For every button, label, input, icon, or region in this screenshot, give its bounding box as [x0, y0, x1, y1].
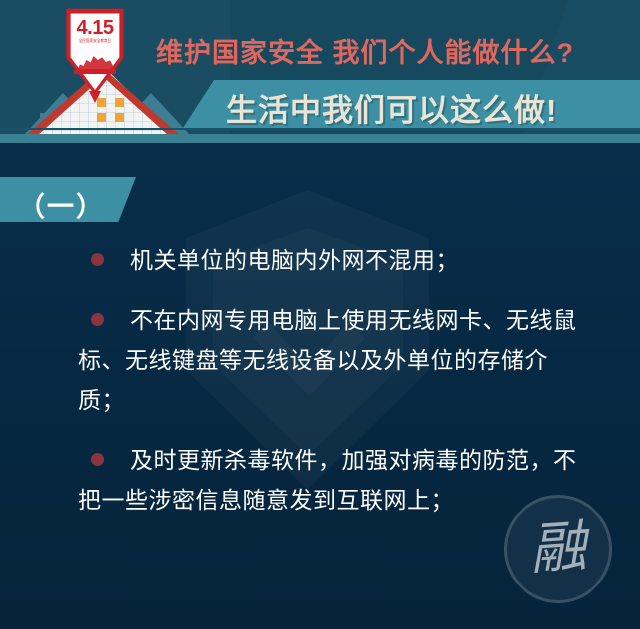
section-number-label: （一） [18, 185, 105, 224]
great-wall-base-icon [74, 69, 116, 74]
house-window-icon [97, 113, 106, 122]
page-title: 维护国家安全 我们个人能做什么? [156, 31, 574, 70]
header-banner: 4.15 全民国家安全教育日 维护国家安全 我们个人能做什么? 生活中我们可以这… [0, 0, 640, 143]
list-item: 不在内网专用电脑上使用无线网卡、无线鼠标、无线键盘等无线设备以及外单位的存储介质… [0, 300, 640, 420]
bullet-icon [91, 253, 104, 266]
bullet-icon [91, 453, 104, 466]
badge-caption: 全民国家安全教育日 [61, 40, 129, 44]
house-window-icon [97, 98, 106, 107]
tips-list: 机关单位的电脑内外网不混用； 不在内网专用电脑上使用无线网卡、无线鼠标、无线键盘… [0, 240, 640, 540]
house-window-icon [115, 98, 124, 107]
seal-character: 融 [528, 519, 588, 579]
header-divider-strip [0, 128, 640, 130]
badge-date: 4.15 [61, 18, 129, 38]
security-day-badge: 4.15 全民国家安全教育日 [61, 7, 129, 99]
round-seal-watermark: 融 [504, 495, 612, 603]
page-subtitle: 生活中我们可以这么做! [226, 85, 557, 130]
poster-root: 4.15 全民国家安全教育日 维护国家安全 我们个人能做什么? 生活中我们可以这… [0, 0, 640, 629]
bullet-icon [91, 313, 104, 326]
ground-strip [0, 134, 640, 143]
house-window-icon [115, 113, 124, 122]
list-item: 机关单位的电脑内外网不混用； [0, 240, 640, 280]
